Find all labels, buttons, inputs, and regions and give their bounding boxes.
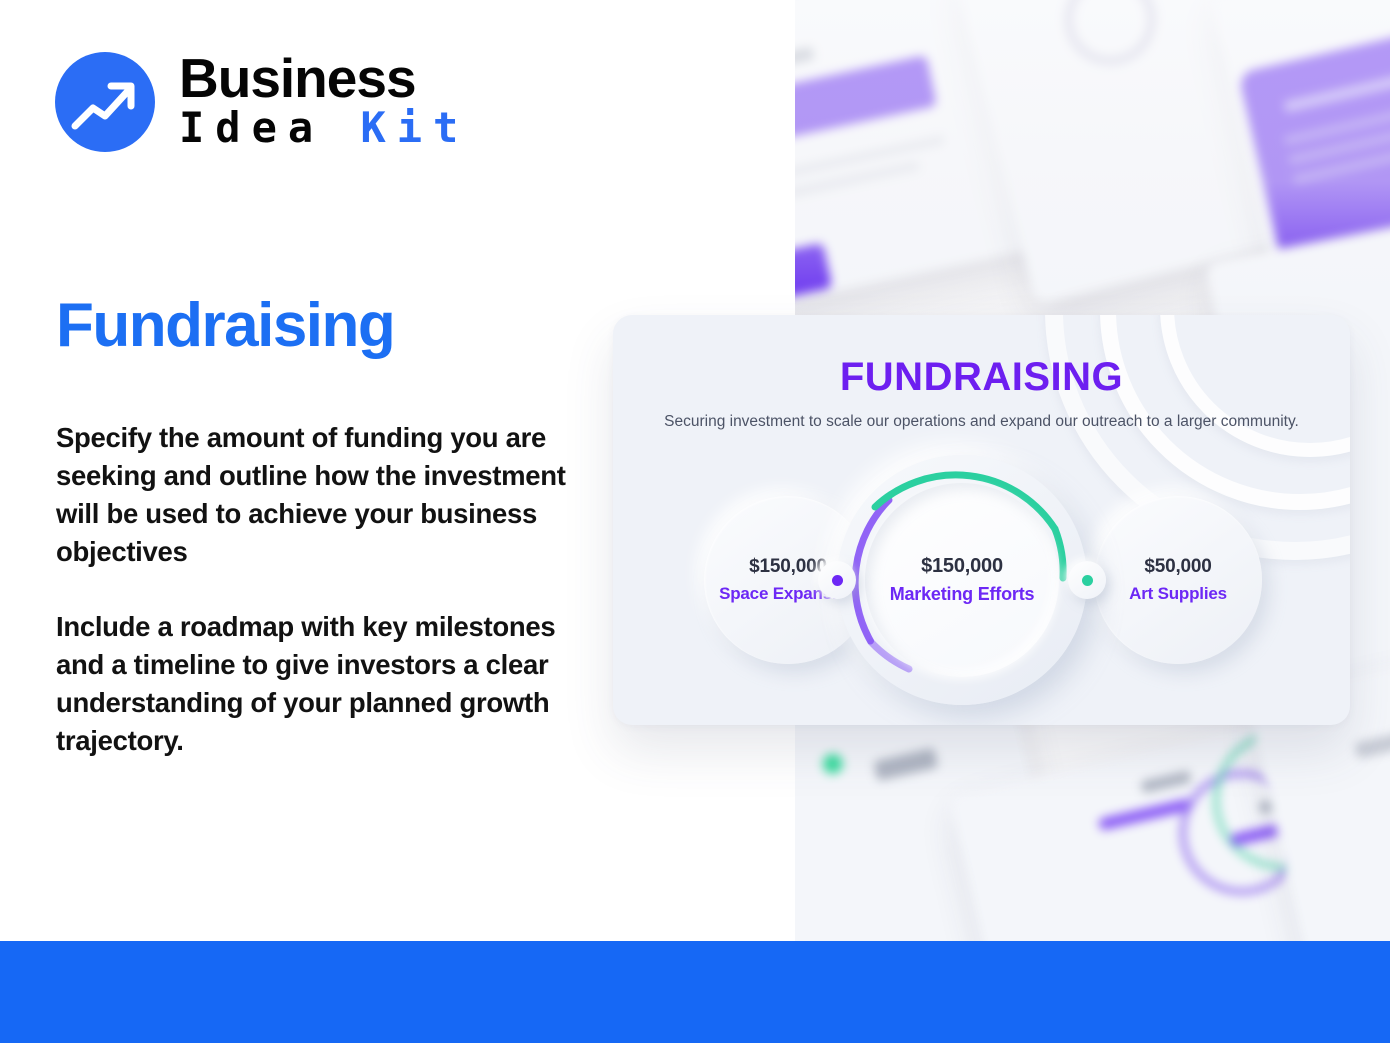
body-paragraph-2: Include a roadmap with key milestones an… (56, 608, 576, 760)
funding-label: Marketing Efforts (890, 584, 1035, 605)
brand-logo: Business Idea Kit (55, 52, 469, 153)
brand-wordmark: Business Idea Kit (179, 52, 469, 153)
connector-node-left (818, 561, 856, 599)
funding-item-center[interactable]: $150,000 Marketing Efforts (837, 455, 1087, 705)
center-inner-disc: $150,000 Marketing Efforts (865, 483, 1059, 677)
slide-title: FUNDRAISING (613, 355, 1350, 400)
funding-breakdown-diagram: $150,000 Space Expansion $50,000 Art Sup… (613, 455, 1350, 705)
brand-kit-text: Kit (360, 103, 469, 152)
funding-amount: $150,000 (921, 555, 1003, 578)
scene-top-fade (790, 0, 1390, 330)
brand-line-2: Idea Kit (179, 104, 469, 152)
funding-label: Art Supplies (1129, 584, 1227, 604)
body-paragraph-1: Specify the amount of funding you are se… (56, 419, 576, 571)
footer-bar (0, 941, 1390, 1043)
funding-amount: $150,000 (749, 556, 827, 578)
brand-idea-text: Idea (179, 103, 324, 152)
fundraising-slide-card: FUNDRAISING Securing investment to scale… (613, 315, 1350, 725)
funding-amount: $50,000 (1144, 556, 1211, 578)
connector-node-right (1068, 561, 1106, 599)
funding-item-right[interactable]: $50,000 Art Supplies (1094, 496, 1262, 664)
growth-arrow-icon (55, 52, 155, 152)
slide-subtitle: Securing investment to scale our operati… (613, 411, 1350, 432)
page-title: Fundraising (56, 295, 394, 357)
brand-line-1: Business (179, 52, 469, 104)
